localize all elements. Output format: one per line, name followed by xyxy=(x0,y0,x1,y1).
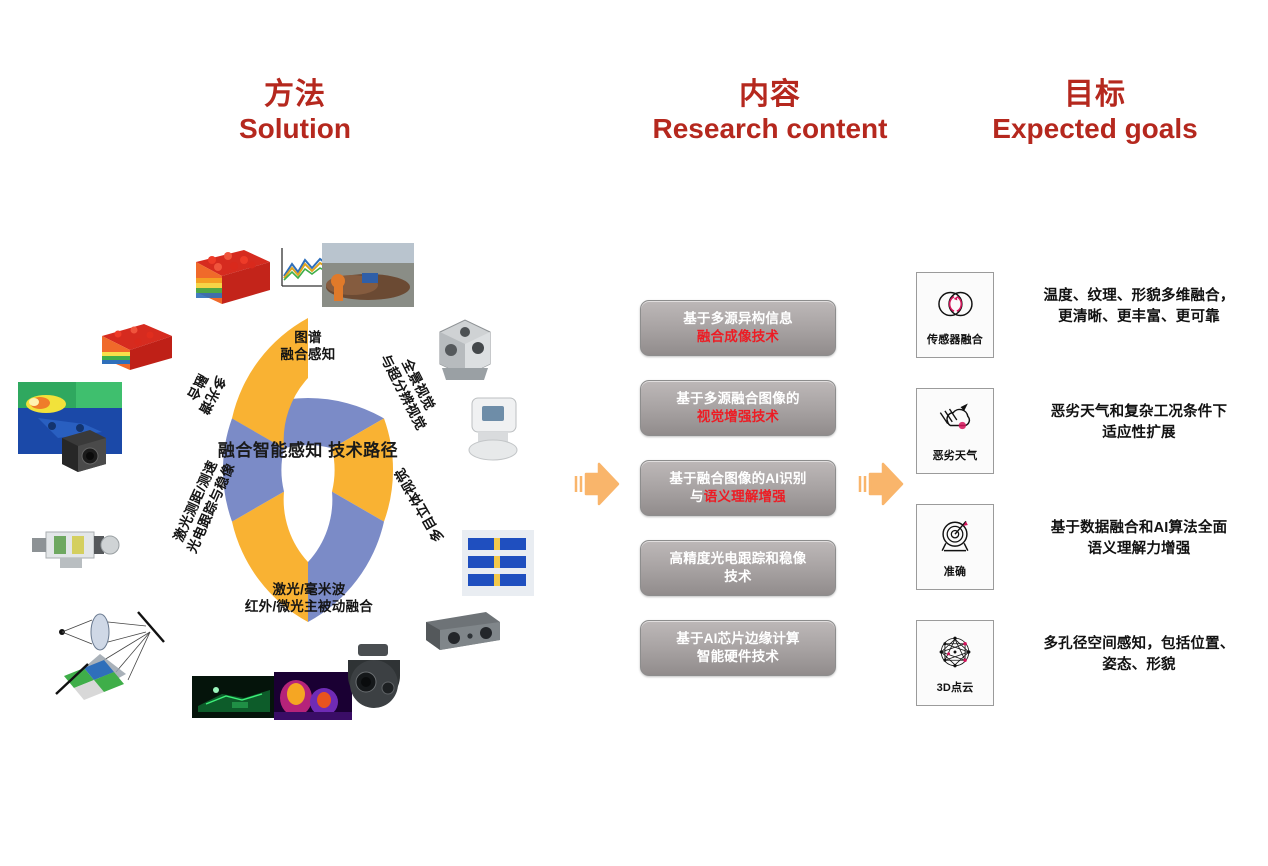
research-box-3[interactable]: 基于融合图像的AI识别 与语义理解增强 xyxy=(640,460,836,516)
donut-center-title: 融合智能感知 技术路径 xyxy=(216,440,400,463)
column-header-content: 内容 Research content xyxy=(600,78,940,145)
hyperspectral-cube-thumb xyxy=(182,240,274,312)
solution-donut-chart: 图谱 融合感知 全景视觉 与超分辨视觉 多目立体视觉 激光/毫米波 红外/微光主… xyxy=(148,310,468,630)
column-header-solution: 方法 Solution xyxy=(165,78,425,145)
research-box-2-line1: 基于多源融合图像的 xyxy=(676,390,799,408)
research-box-2[interactable]: 基于多源融合图像的 视觉增强技术 xyxy=(640,380,836,436)
diagram-canvas: 方法 Solution 内容 Research content 目标 Expec… xyxy=(0,0,1268,866)
research-box-2-line2: 视觉增强技术 xyxy=(697,408,779,426)
box-camera-photo-thumb xyxy=(56,424,112,476)
research-box-3-line2-wrap: 与语义理解增强 xyxy=(690,488,786,506)
goal-caption-2: 恶劣天气 xyxy=(933,447,978,463)
optical-instrument-photo-thumb xyxy=(462,392,524,462)
header-goals-cn: 目标 xyxy=(945,78,1245,112)
industrial-pipe-photo-thumb xyxy=(322,243,414,307)
goal-text-3: 基于数据融合和AI算法全面 语义理解力增强 xyxy=(1020,518,1258,559)
research-box-1-line1: 基于多源异构信息 xyxy=(683,310,793,328)
goal-card-accuracy[interactable]: 准确 xyxy=(916,504,994,590)
gimbal-turret-photo-thumb xyxy=(336,640,412,720)
goal-row-3: 准确 基于数据融合和AI算法全面 语义理解力增强 xyxy=(916,504,1256,590)
target-accuracy-icon xyxy=(933,514,977,558)
goal-caption-4: 3D点云 xyxy=(937,679,974,695)
night-vision-thumb xyxy=(192,676,276,718)
goal-card-sensor-fusion[interactable]: 传感器融合 xyxy=(916,272,994,358)
venn-fusion-icon xyxy=(933,282,977,326)
goal-text-4: 多孔径空间感知，包括位置、 姿态、形貌 xyxy=(1020,634,1258,675)
point-cloud-icon xyxy=(933,630,977,674)
goal-caption-3: 准确 xyxy=(944,563,966,579)
research-box-5-line2: 智能硬件技术 xyxy=(697,648,779,666)
goal-row-4: 3D点云 多孔径空间感知，包括位置、 姿态、形貌 xyxy=(916,620,1256,706)
research-box-3-line2-prefix: 与 xyxy=(690,489,704,504)
research-box-4-line2: 技术 xyxy=(724,568,751,586)
arrow-solution-to-content xyxy=(572,462,620,506)
header-goals-en: Expected goals xyxy=(945,112,1245,146)
goal-card-point-cloud[interactable]: 3D点云 xyxy=(916,620,994,706)
rain-weather-icon xyxy=(933,398,977,442)
arrow-content-to-goals xyxy=(856,462,904,506)
header-content-en: Research content xyxy=(600,112,940,146)
donut-label-0: 图谱 融合感知 xyxy=(228,330,388,364)
research-box-4[interactable]: 高精度光电跟踪和稳像 技术 xyxy=(640,540,836,596)
goal-card-bad-weather[interactable]: 恶劣天气 xyxy=(916,388,994,474)
laser-optical-device-thumb xyxy=(28,516,124,578)
research-box-5[interactable]: 基于AI芯片边缘计算 智能硬件技术 xyxy=(640,620,836,676)
header-solution-cn: 方法 xyxy=(165,78,425,112)
research-box-3-line1: 基于融合图像的AI识别 xyxy=(669,470,806,488)
header-solution-en: Solution xyxy=(165,112,425,146)
blue-structure-photo-thumb xyxy=(462,530,534,596)
column-header-goals: 目标 Expected goals xyxy=(945,78,1245,145)
donut-label-3: 激光/毫米波 红外/微光主被动融合 xyxy=(214,582,404,616)
research-box-4-line1: 高精度光电跟踪和稳像 xyxy=(670,550,807,568)
goal-row-1: 传感器融合 温度、纹理、形貌多维融合， 更清晰、更丰富、更可靠 xyxy=(916,272,1256,358)
goal-row-2: 恶劣天气 恶劣天气和复杂工况条件下 适应性扩展 xyxy=(916,388,1256,474)
goal-caption-1: 传感器融合 xyxy=(927,331,983,347)
research-box-3-line2: 语义理解增强 xyxy=(704,489,786,504)
research-box-1-line2: 融合成像技术 xyxy=(697,328,779,346)
header-content-cn: 内容 xyxy=(600,78,940,112)
goal-text-2: 恶劣天气和复杂工况条件下 适应性扩展 xyxy=(1020,402,1258,443)
research-box-5-line1: 基于AI芯片边缘计算 xyxy=(676,630,800,648)
research-box-1[interactable]: 基于多源异构信息 融合成像技术 xyxy=(640,300,836,356)
goal-text-1: 温度、纹理、形貌多维融合， 更清晰、更丰富、更可靠 xyxy=(1020,286,1258,327)
